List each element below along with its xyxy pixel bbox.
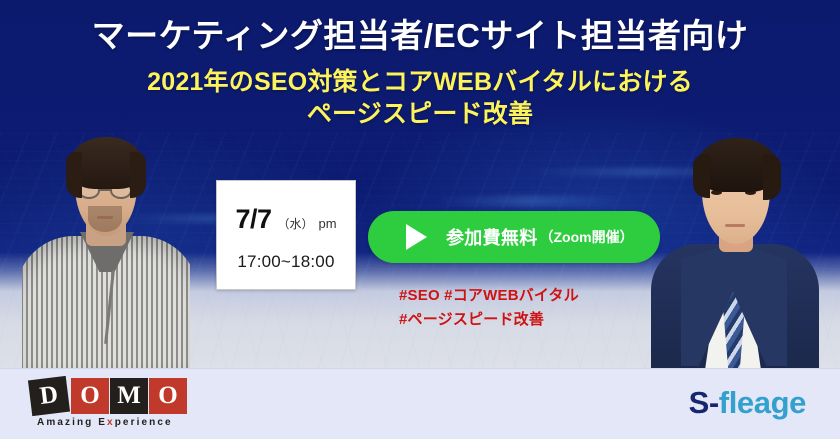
speaker-right-mouth bbox=[725, 224, 745, 227]
sfleage-word: fleage bbox=[719, 385, 806, 420]
domo-tagline: Amazing Experience bbox=[37, 417, 173, 428]
domo-letter-m: M bbox=[110, 378, 148, 414]
hashtag-block: #SEO #コアWEBバイタル #ページスピード改善 bbox=[399, 284, 579, 333]
speaker-photo-left bbox=[22, 128, 190, 368]
domo-letter-o1: O bbox=[71, 378, 109, 414]
background-streak-1 bbox=[430, 196, 630, 206]
event-time-range: 17:00~18:00 bbox=[217, 252, 355, 272]
speaker-left-mouth bbox=[97, 216, 113, 219]
speaker-photo-right bbox=[645, 126, 821, 368]
speaker-left-hair-side-left bbox=[66, 152, 82, 198]
webinar-banner: マーケティング担当者/ECサイト担当者向け 2021年のSEO対策とコアWEBバ… bbox=[0, 0, 840, 439]
hashtag-line-1: #SEO #コアWEBバイタル bbox=[399, 284, 579, 308]
domo-tagline-mid: mazing E bbox=[46, 417, 107, 428]
event-date-day-of-week: （水） bbox=[277, 215, 313, 232]
sfleage-logo[interactable]: S-fleage bbox=[689, 385, 806, 421]
sfleage-dash: - bbox=[709, 385, 719, 420]
headline-subtitle-line2: ページスピード改善 bbox=[0, 98, 840, 131]
speaker-left-beard bbox=[88, 206, 122, 232]
cta-label: 参加費無料 bbox=[446, 224, 538, 250]
headline-main-title: マーケティング担当者/ECサイト担当者向け bbox=[0, 18, 840, 55]
footer-bar: D O M O Amazing Experience S-fleage bbox=[0, 368, 840, 439]
domo-tagline-x: x bbox=[107, 417, 115, 428]
free-registration-button[interactable]: 参加費無料 （Zoom開催） bbox=[368, 211, 660, 263]
speaker-left-hair-side-right bbox=[130, 152, 146, 198]
hashtag-line-2: #ページスピード改善 bbox=[399, 308, 579, 332]
event-date-card: 7/7 （水） pm 17:00~18:00 bbox=[216, 180, 356, 290]
cta-note: （Zoom開催） bbox=[540, 227, 634, 247]
glasses-icon-bridge bbox=[100, 189, 110, 191]
domo-tagline-a: A bbox=[37, 417, 46, 428]
headline-subtitle-line1: 2021年のSEO対策とコアWEBバイタルにおける bbox=[0, 66, 840, 99]
sfleage-letter-s: S bbox=[689, 385, 709, 420]
domo-letter-d: D bbox=[28, 376, 70, 416]
domo-letter-o2: O bbox=[149, 378, 187, 414]
play-triangle-icon bbox=[406, 224, 427, 250]
domo-logo[interactable]: D O M O Amazing Experience bbox=[30, 378, 220, 432]
speaker-right-hair-side-right bbox=[763, 154, 781, 200]
event-date-row: 7/7 （水） pm bbox=[217, 204, 355, 235]
speaker-right-hair-side-left bbox=[693, 154, 710, 198]
domo-tagline-end: perience bbox=[115, 417, 173, 428]
event-date-day: 7/7 bbox=[235, 204, 271, 235]
headline-block: マーケティング担当者/ECサイト担当者向け 2021年のSEO対策とコアWEBバ… bbox=[0, 18, 840, 131]
event-date-meridiem: pm bbox=[319, 216, 337, 231]
